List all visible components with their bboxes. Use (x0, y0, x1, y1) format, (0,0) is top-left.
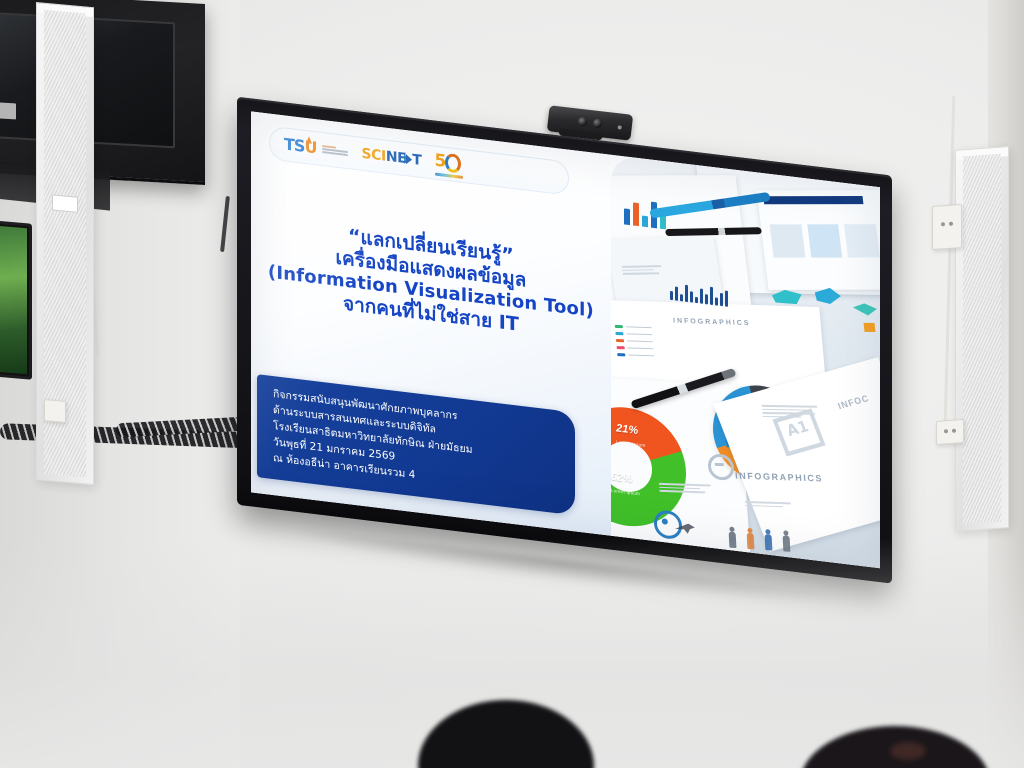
paper-text-lines (621, 265, 662, 274)
cabinet-sticker (0, 102, 16, 119)
brochure-spread (756, 189, 880, 289)
tsu-logo-subtext (322, 145, 348, 156)
paper-text-lines (745, 501, 791, 508)
speaker-grille (963, 154, 1001, 525)
wall-outlet-plate[interactable] (932, 204, 962, 250)
slide-left-panel: TS U SCI NE (251, 111, 611, 535)
map-shape-icon (853, 303, 878, 315)
sci-next-logo-ne-text: NE (386, 149, 406, 167)
paper-text-lines (761, 404, 818, 417)
slide-right-panel: INFOGRAPHICS (611, 155, 880, 568)
arrow-up-icon (306, 136, 312, 144)
sci-next-logo-t-text: T (412, 152, 421, 169)
presentation-slide: TS U SCI NE (251, 111, 880, 568)
brochure-cell (844, 223, 879, 257)
speaker-badge (52, 194, 78, 212)
logo-bar: TS U SCI NE (269, 126, 569, 196)
pie-value-21: 21% (616, 422, 638, 437)
a1-watermark-text: A1 (784, 419, 810, 439)
brochure-cell (807, 224, 842, 258)
tsu-logo: TS U (284, 136, 348, 160)
tsu-logo-ts-text: TS (284, 136, 304, 154)
wall-plate-left[interactable] (44, 399, 66, 423)
wall-speaker-right (955, 146, 1009, 532)
outlet-slot (949, 222, 953, 226)
anniversary-ring-icon (445, 153, 461, 174)
sci-next-logo: SCI NE T (361, 146, 421, 169)
scene-root: TS U SCI NE (0, 0, 1024, 768)
fiftieth-anniversary-logo: 5 (434, 150, 464, 180)
brochure-accent-square (863, 323, 875, 332)
wall-outlet-plate-lower[interactable] (936, 419, 964, 445)
brochure-cell (769, 224, 804, 258)
television: TS U SCI NE (231, 90, 895, 588)
slide-title: “แลกเปลี่ยนเรียนรู้” เครื่องมือแสดงผลข้อ… (251, 213, 611, 348)
pie-value-62: 62% (611, 471, 633, 486)
anniversary-ribbon-icon (435, 173, 463, 179)
audience-head-right-highlight (890, 742, 926, 760)
outlet-slot (941, 222, 945, 226)
sci-next-logo-sci-text: SCI (361, 146, 385, 165)
tv-screen[interactable]: TS U SCI NE (251, 111, 880, 568)
outlet-slot (944, 429, 948, 433)
event-details-box: กิจกรรมสนับสนุนพัฒนาศักยภาพบุคลากร ด้านร… (257, 374, 575, 515)
side-monitor-screen (0, 226, 27, 375)
tv-bezel: TS U SCI NE (237, 97, 892, 584)
brochure-header-band (763, 196, 863, 204)
infographics-desk-photo: INFOGRAPHICS (611, 155, 880, 568)
overhead-cabinet (0, 0, 205, 185)
chart-legend-graphic (615, 325, 655, 357)
paper-text-lines (659, 483, 712, 493)
side-monitor (0, 220, 32, 379)
outlet-slot (952, 429, 956, 433)
